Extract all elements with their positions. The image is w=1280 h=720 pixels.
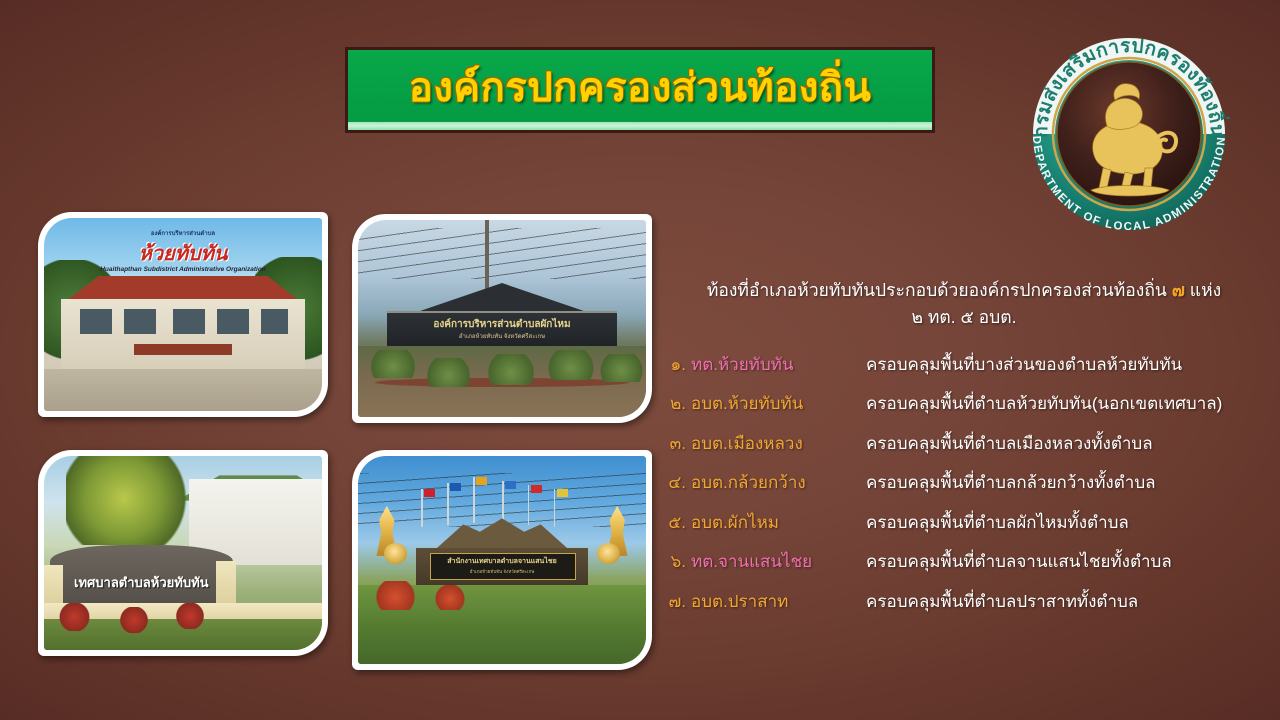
intro-line1-before: ท้องที่อำเภอห้วยทับทันประกอบด้วยองค์กรปก…	[707, 280, 1167, 300]
list-item: ๖. ทต.จานแสนไชย ครอบคลุมพื้นที่ตำบลจานแส…	[664, 548, 1264, 575]
list-item: ๔. อบต.กล้วยกว้าง ครอบคลุมพื้นที่ตำบลกล้…	[664, 469, 1264, 496]
list-item-index: ๔.	[664, 469, 686, 496]
list-item-desc: ครอบคลุมพื้นที่ตำบลกล้วยกว้างทั้งตำบล	[866, 469, 1264, 496]
slide-title-banner: องค์กรปกครองส่วนท้องถิ่น	[345, 47, 935, 125]
title-banner-highlight-strip	[345, 122, 935, 133]
photo3-sign-line1: เทศบาลตำบลห้วยทับทัน	[50, 572, 233, 593]
list-item-index: ๖.	[664, 548, 686, 575]
overhead-wires	[358, 228, 646, 279]
list-item: ๗. อบต.ปราสาท ครอบคลุมพื้นที่ตำบลปราสาทท…	[664, 588, 1264, 615]
list-item-org: อบต.ปราสาท	[691, 588, 866, 615]
list-item-org: อบต.กล้วยกว้าง	[691, 469, 866, 496]
golden-shower-tree	[66, 456, 194, 545]
list-item-org: ทต.ห้วยทับทัน	[691, 351, 866, 378]
list-item-index: ๕.	[664, 509, 686, 536]
page-title: องค์กรปกครองส่วนท้องถิ่น	[409, 68, 872, 108]
photo-huai-thap-than-sao: องค์การบริหารส่วนตำบล ห้วยทับทัน Huaitha…	[38, 212, 328, 417]
list-item-desc: ครอบคลุมพื้นที่ตำบลเมืองหลวงทั้งตำบล	[866, 430, 1264, 457]
list-item-index: ๒.	[664, 390, 686, 417]
list-item-desc: ครอบคลุมพื้นที่ตำบลปราสาททั้งตำบล	[866, 588, 1264, 615]
list-item-index: ๓.	[664, 430, 686, 457]
list-item-org: อบต.ผักไหม	[691, 509, 866, 536]
list-item-index: ๑.	[664, 351, 686, 378]
photo1-caption-english: Huaithapthan Subdistrict Administrative …	[44, 266, 322, 273]
photo1-caption-main: ห้วยทับทัน	[44, 237, 322, 269]
intro-line1-after: แห่ง	[1190, 280, 1221, 300]
organization-list: ๑. ทต.ห้วยทับทัน ครอบคลุมพื้นที่บางส่วนข…	[664, 351, 1264, 615]
list-item-index: ๗.	[664, 588, 686, 615]
photo-huai-thap-than-municipality-sign: เทศบาลตำบลห้วยทับทัน	[38, 450, 328, 656]
list-item: ๑. ทต.ห้วยทับทัน ครอบคลุมพื้นที่บางส่วนข…	[664, 351, 1264, 378]
list-item: ๓. อบต.เมืองหลวง ครอบคลุมพื้นที่ตำบลเมือ…	[664, 430, 1264, 457]
list-item: ๒. อบต.ห้วยทับทัน ครอบคลุมพื้นที่ตำบลห้ว…	[664, 390, 1264, 417]
building-facade	[61, 299, 306, 368]
photo2-sign-line1: องค์การบริหารส่วนตำบลผักไหม	[387, 317, 617, 332]
list-item-desc: ครอบคลุมพื้นที่ตำบลจานแสนไชยทั้งตำบล	[866, 548, 1264, 575]
list-item-org: อบต.เมืองหลวง	[691, 430, 866, 457]
photo4-sign-line1: สำนักงานเทศบาลตำบลจานแสนไชย	[430, 556, 574, 567]
dla-seal-icon: กรมส่งเสริมการปกครองท้องถิ่น DEPARTMENT …	[1003, 8, 1255, 230]
intro-paragraph: ท้องที่อำเภอห้วยทับทันประกอบด้วยองค์กรปก…	[664, 278, 1264, 331]
list-item-org: ทต.จานแสนไชย	[691, 548, 866, 575]
list-item-desc: ครอบคลุมพื้นที่ตำบลผักไหมทั้งตำบล	[866, 509, 1264, 536]
photo2-sign-line2: อำเภอห้วยทับทัน จังหวัดศรีสะเกษ	[387, 331, 617, 341]
intro-count: ๗	[1172, 280, 1185, 300]
photo1-caption-top: องค์การบริหารส่วนตำบล	[44, 228, 322, 238]
photo4-sign-line2: อำเภอห้วยทับทัน จังหวัดศรีสะเกษ	[430, 568, 574, 575]
list-item-desc: ครอบคลุมพื้นที่ตำบลห้วยทับทัน(นอกเขตเทศบ…	[866, 390, 1264, 417]
building-roof	[66, 276, 300, 301]
photo-chan-saen-chai-municipality-gate: สำนักงานเทศบาลตำบลจานแสนไชย อำเภอห้วยทับ…	[352, 450, 652, 670]
utility-pole	[485, 220, 490, 291]
list-item-desc: ครอบคลุมพื้นที่บางส่วนของตำบลห้วยทับทัน	[866, 351, 1264, 378]
forecourt	[44, 369, 322, 411]
intro-line2: ๒ ทต. ๕ อบต.	[664, 305, 1264, 330]
list-item-org: อบต.ห้วยทับทัน	[691, 390, 866, 417]
photo-phak-mai-sao-sign: องค์การบริหารส่วนตำบลผักไหม อำเภอห้วยทับ…	[352, 214, 652, 423]
slide-canvas: องค์กรปกครองส่วนท้องถิ่น	[0, 0, 1280, 720]
list-item: ๕. อบต.ผักไหม ครอบคลุมพื้นที่ตำบลผักไหมท…	[664, 509, 1264, 536]
local-government-list-panel: ท้องที่อำเภอห้วยทับทันประกอบด้วยองค์กรปก…	[664, 278, 1264, 627]
